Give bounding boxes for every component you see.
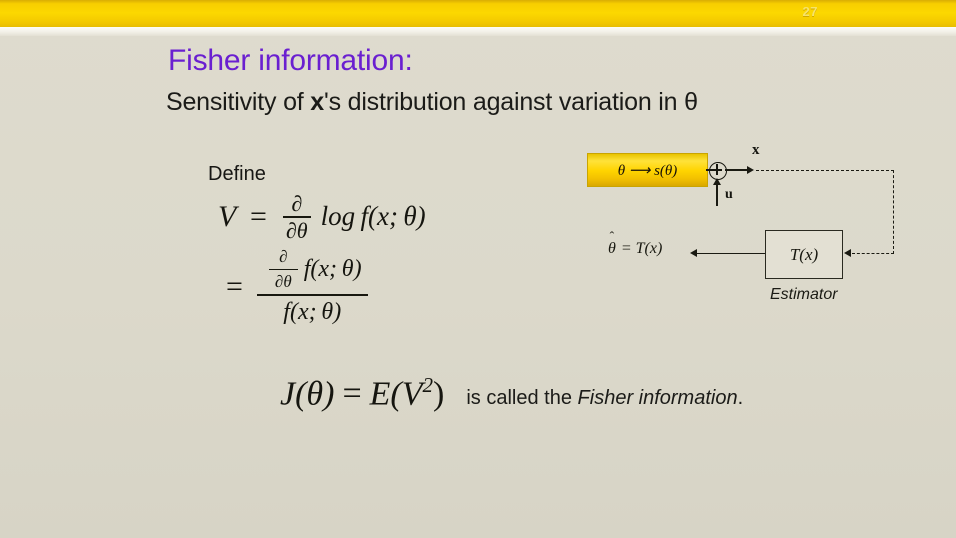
hat-accent: ˆ xyxy=(610,230,615,244)
denominator-function: f(x; θ) xyxy=(277,299,347,326)
equation-j-rhs: E(V xyxy=(370,375,423,412)
noise-label-u: u xyxy=(725,187,733,203)
equation-v-lhs: V xyxy=(218,200,248,234)
page-subtitle: Sensitivity of x's distribution against … xyxy=(166,88,698,117)
fisher-information-statement: J(θ)=E(V2) is called the Fisher informat… xyxy=(280,373,743,413)
statement-text: is called the Fisher information. xyxy=(466,387,743,410)
define-label: Define xyxy=(208,163,266,186)
statement-text-after: . xyxy=(738,387,744,409)
main-fraction-bar xyxy=(257,294,368,296)
fraction-bar xyxy=(269,269,298,271)
partial-derivative-operator-2: ∂ ∂θ xyxy=(269,248,298,291)
top-bar-highlight xyxy=(0,27,956,36)
connector-noise-input xyxy=(716,184,718,206)
equation-j-close-paren: ) xyxy=(433,375,444,412)
arrowhead-noise-up-icon xyxy=(713,178,721,185)
statement-text-before: is called the xyxy=(466,387,577,409)
equation-v-equals-1: = xyxy=(250,200,267,234)
equation-j-exponent: 2 xyxy=(422,373,433,397)
page-title: Fisher information: xyxy=(168,44,413,78)
estimator-box-label: T(x) xyxy=(790,245,818,265)
signal-model-label: θ ⟶ s(θ) xyxy=(618,161,678,180)
connector-estimator-to-estimate xyxy=(697,253,765,255)
subtitle-part-a: Sensitivity of xyxy=(166,88,310,116)
slide-canvas: 27 Fisher information: Sensitivity of x'… xyxy=(0,0,956,538)
equation-v-equals-2: = xyxy=(226,270,243,304)
estimator-caption: Estimator xyxy=(770,286,838,304)
estimator-box: T(x) xyxy=(765,230,843,279)
feedback-path-top xyxy=(756,170,894,171)
page-number: 27 xyxy=(803,4,818,19)
equation-v-block: V = ∂ ∂θ log f(x; θ) = ∂ ∂θ f(x; θ) xyxy=(218,192,426,326)
equation-j-lhs: J(θ) xyxy=(280,375,334,412)
equation-v-line-1: V = ∂ ∂θ log f(x; θ) xyxy=(218,192,426,242)
arrowhead-output-right-icon xyxy=(747,166,754,174)
subtitle-variable-x: x xyxy=(310,88,324,116)
estimate-expression: ˆθ= T(x) xyxy=(608,240,662,258)
theta-hat-group: ˆθ xyxy=(608,240,616,258)
partial-denominator-2: ∂θ xyxy=(269,273,298,291)
sum-node-vertical-stroke xyxy=(716,164,718,175)
statement-emphasis: Fisher information xyxy=(578,387,738,409)
feedback-path-bottom xyxy=(852,253,894,254)
big-fraction: ∂ ∂θ f(x; θ) f(x; θ) xyxy=(257,248,368,326)
equation-v-rhs-1: log f(x; θ) xyxy=(321,201,426,232)
partial-derivative-operator-1: ∂ ∂θ xyxy=(283,192,311,242)
connector-sum-to-output xyxy=(725,169,747,171)
observation-label-x: x xyxy=(752,142,760,159)
partial-numerator-2: ∂ xyxy=(273,248,293,266)
arrowhead-estimate-left-icon xyxy=(690,249,697,257)
partial-numerator-1: ∂ xyxy=(288,192,305,215)
equation-v-line-2: = ∂ ∂θ f(x; θ) f(x; θ) xyxy=(224,248,426,326)
estimate-expression-rest: = T(x) xyxy=(621,240,662,257)
feedback-path-right xyxy=(893,170,894,254)
subtitle-part-c: 's distribution against variation in θ xyxy=(324,88,698,116)
big-fraction-numerator: ∂ ∂θ f(x; θ) xyxy=(257,248,368,291)
equation-j-theta: J(θ)=E(V2) xyxy=(280,373,444,413)
signal-model-box: θ ⟶ s(θ) xyxy=(587,153,708,187)
arrowhead-into-estimator-icon xyxy=(844,249,851,257)
numerator-function: f(x; θ) xyxy=(304,256,362,283)
signal-estimation-block-diagram: θ ⟶ s(θ) u x T(x) Estimator xyxy=(580,140,910,320)
partial-denominator-1: ∂θ xyxy=(283,219,311,242)
equation-j-equals: = xyxy=(342,375,361,412)
